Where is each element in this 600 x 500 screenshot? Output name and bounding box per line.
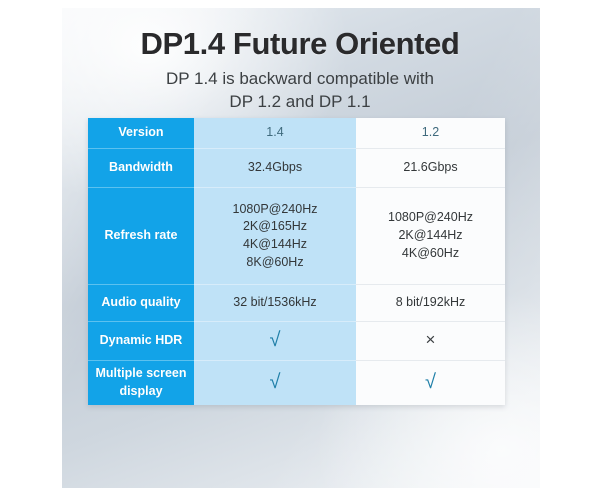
- cell-version-dp12: 1.2: [356, 118, 505, 149]
- row-label-dynamic-hdr: Dynamic HDR: [88, 322, 194, 361]
- check-mark-icon: √: [425, 372, 436, 392]
- row-label-multiple-screen-display: Multiple screen display: [88, 361, 194, 406]
- page-root: DP1.4 Future Oriented DP 1.4 is backward…: [0, 0, 600, 500]
- page-subtitle: DP 1.4 is backward compatible with DP 1.…: [0, 68, 600, 114]
- cell-audio-quality-dp12: 8 bit/192kHz: [356, 285, 505, 322]
- check-mark-icon: √: [270, 330, 281, 350]
- page-subtitle-line-2: DP 1.2 and DP 1.1: [0, 91, 600, 114]
- cell-dynamic-hdr-dp12: ×: [356, 322, 505, 361]
- page-subtitle-line-1: DP 1.4 is backward compatible with: [0, 68, 600, 91]
- cell-multiple-screen-dp14: √: [194, 361, 356, 406]
- row-label-refresh-rate: Refresh rate: [88, 188, 194, 285]
- table-row: Version 1.4 1.2: [88, 118, 505, 149]
- cell-version-dp14: 1.4: [194, 118, 356, 149]
- cell-multiple-screen-dp12: √: [356, 361, 505, 406]
- table-row: Audio quality 32 bit/1536kHz 8 bit/192kH…: [88, 285, 505, 322]
- cell-dynamic-hdr-dp14: √: [194, 322, 356, 361]
- cell-bandwidth-dp12: 21.6Gbps: [356, 149, 505, 188]
- cell-audio-quality-dp14: 32 bit/1536kHz: [194, 285, 356, 322]
- content-layer: DP1.4 Future Oriented DP 1.4 is backward…: [0, 0, 600, 500]
- cross-mark-icon: ×: [426, 331, 436, 348]
- cell-refresh-rate-dp12: 1080P@240Hz 2K@144Hz 4K@60Hz: [356, 188, 505, 285]
- table-row: Bandwidth 32.4Gbps 21.6Gbps: [88, 149, 505, 188]
- check-mark-icon: √: [270, 372, 281, 392]
- cell-refresh-rate-dp14: 1080P@240Hz 2K@165Hz 4K@144Hz 8K@60Hz: [194, 188, 356, 285]
- spec-comparison-table: Version 1.4 1.2 Bandwidth 32.4Gbps 21.6G…: [88, 118, 505, 405]
- table-row: Multiple screen display √ √: [88, 361, 505, 406]
- row-label-audio-quality: Audio quality: [88, 285, 194, 322]
- table-row: Dynamic HDR √ ×: [88, 322, 505, 361]
- table-row: Refresh rate 1080P@240Hz 2K@165Hz 4K@144…: [88, 188, 505, 285]
- cell-bandwidth-dp14: 32.4Gbps: [194, 149, 356, 188]
- row-label-version: Version: [88, 118, 194, 149]
- row-label-bandwidth: Bandwidth: [88, 149, 194, 188]
- page-title: DP1.4 Future Oriented: [0, 28, 600, 61]
